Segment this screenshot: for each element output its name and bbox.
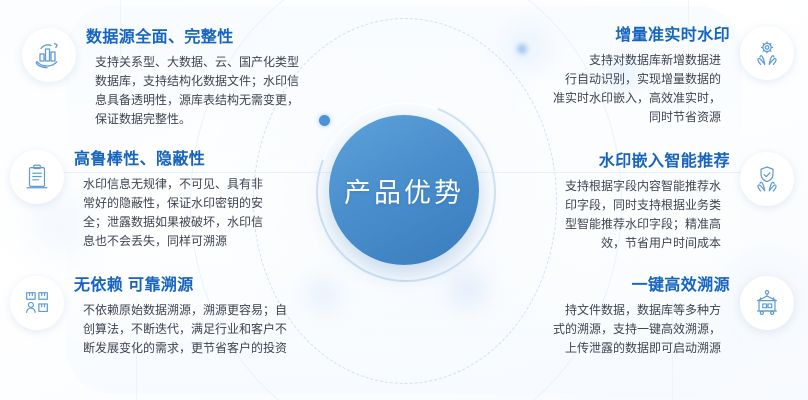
feature-body-line: 息具备透明性，源库表结构无需变更， — [95, 91, 299, 110]
clipboard-document-icon — [10, 150, 64, 204]
hands-shield-check-icon — [740, 152, 794, 206]
feature-body-line: 常好的隐蔽性，保证水印密钥的安 — [83, 194, 263, 213]
feature-body-line: 行自动识别，实现增量数据的 — [553, 70, 721, 89]
feature-body: 支持根据字段内容智能推荐水 印字段，同时支持根据业务类 型智能推荐水印字段；精准… — [565, 177, 730, 253]
feature-body: 支持关系型、大数据、云、国产化类型 数据库，支持结构化数据文件；水印信 息具备透… — [86, 53, 299, 129]
center-orbit-dot — [319, 115, 330, 126]
feature-body-line: 断发展变化的需求，更节省客户的投资 — [83, 339, 287, 358]
feature-body-line: 支持对数据库新增数据进 — [553, 51, 721, 70]
feature-body: 支持对数据库新增数据进 行自动识别，实现增量数据的 准实时水印嵌入，高效准实时，… — [553, 51, 730, 127]
feature-title: 高鲁棒性、隐蔽性 — [74, 150, 205, 170]
feature-body: 水印信息无规律，不可见、具有非 常好的隐蔽性，保证水印密钥的安 全；泄露数据如果… — [74, 175, 263, 251]
feature-body-line: 型智能推荐水印字段；精准高 — [565, 215, 721, 234]
feature-body-line: 式的溯源，支持一键高效溯源， — [553, 320, 721, 339]
feature-body-line: 印字段，同时支持根据业务类 — [565, 196, 721, 215]
background-blob-lower-left — [300, 272, 346, 318]
feature-body-line: 效，节省用户时间成本 — [565, 234, 721, 253]
feature-title: 水印嵌入智能推荐 — [599, 152, 730, 172]
feature-title: 无依赖 可靠溯源 — [74, 276, 194, 296]
feature-body-line: 水印信息无规律，不可见、具有非 — [83, 175, 263, 194]
feature-title: 一键高效溯源 — [632, 276, 730, 296]
background-accent-dot — [515, 42, 529, 56]
feature-body-line: 准实时水印嵌入，高效准实时， — [553, 89, 721, 108]
feature-title: 增量准实时水印 — [615, 26, 730, 46]
center-label: 产品优势 — [344, 171, 464, 210]
feature-body-line: 同时节省资源 — [553, 108, 721, 127]
building-trace-icon — [740, 276, 794, 330]
feature-body-line: 持文件数据，数据库等多种方 — [553, 301, 721, 320]
feature-card-incremental-watermark[interactable]: 增量准实时水印 支持对数据库新增数据进 行自动识别，实现增量数据的 准实时水印嵌… — [553, 26, 794, 127]
hand-bar-chart-growth-icon — [22, 28, 76, 82]
feature-card-traceability[interactable]: 无依赖 可靠溯源 不依赖原始数据溯源，溯源更容易；自 创算法，不断迭代，满足行业… — [10, 276, 287, 358]
feature-body-line: 息也不会丢失，同样可溯源 — [83, 232, 263, 251]
feature-title: 数据源全面、完整性 — [86, 28, 234, 48]
center-circle: 产品优势 — [329, 115, 479, 265]
feature-body-line: 数据库，支持结构化数据文件；水印信 — [95, 72, 299, 91]
warehouse-boxes-trace-icon — [10, 276, 64, 330]
feature-card-data-source[interactable]: 数据源全面、完整性 支持关系型、大数据、云、国产化类型 数据库，支持结构化数据文… — [22, 28, 299, 129]
feature-body-line: 支持根据字段内容智能推荐水 — [565, 177, 721, 196]
feature-body-line: 支持关系型、大数据、云、国产化类型 — [95, 53, 299, 72]
feature-card-robustness[interactable]: 高鲁棒性、隐蔽性 水印信息无规律，不可见、具有非 常好的隐蔽性，保证水印密钥的安… — [10, 150, 263, 251]
feature-card-one-click-trace[interactable]: 一键高效溯源 持文件数据，数据库等多种方 式的溯源，支持一键高效溯源， 上传泄露… — [553, 276, 794, 358]
background-blob-top — [496, 18, 556, 78]
product-advantages-infographic: 产品优势 数据源全面、完整性 支持关系型、大数据、云、国产化类型 数据库，支持结… — [0, 0, 808, 400]
hands-gear-icon — [740, 26, 794, 80]
feature-body-line: 保证数据完整性。 — [95, 110, 299, 129]
feature-body-line: 不依赖原始数据溯源，溯源更容易；自 — [83, 301, 287, 320]
feature-body-line: 全；泄露数据如果被破坏，水印信 — [83, 213, 263, 232]
feature-body: 不依赖原始数据溯源，溯源更容易；自 创算法，不断迭代，满足行业和客户不 断发展变… — [74, 301, 287, 358]
feature-body: 持文件数据，数据库等多种方 式的溯源，支持一键高效溯源， 上传泄露的数据即可启动… — [553, 301, 730, 358]
feature-card-smart-recommendation[interactable]: 水印嵌入智能推荐 支持根据字段内容智能推荐水 印字段，同时支持根据业务类 型智能… — [565, 152, 794, 253]
feature-body-line: 创算法，不断迭代，满足行业和客户不 — [83, 320, 287, 339]
feature-body-line: 上传泄露的数据即可启动溯源 — [553, 339, 721, 358]
